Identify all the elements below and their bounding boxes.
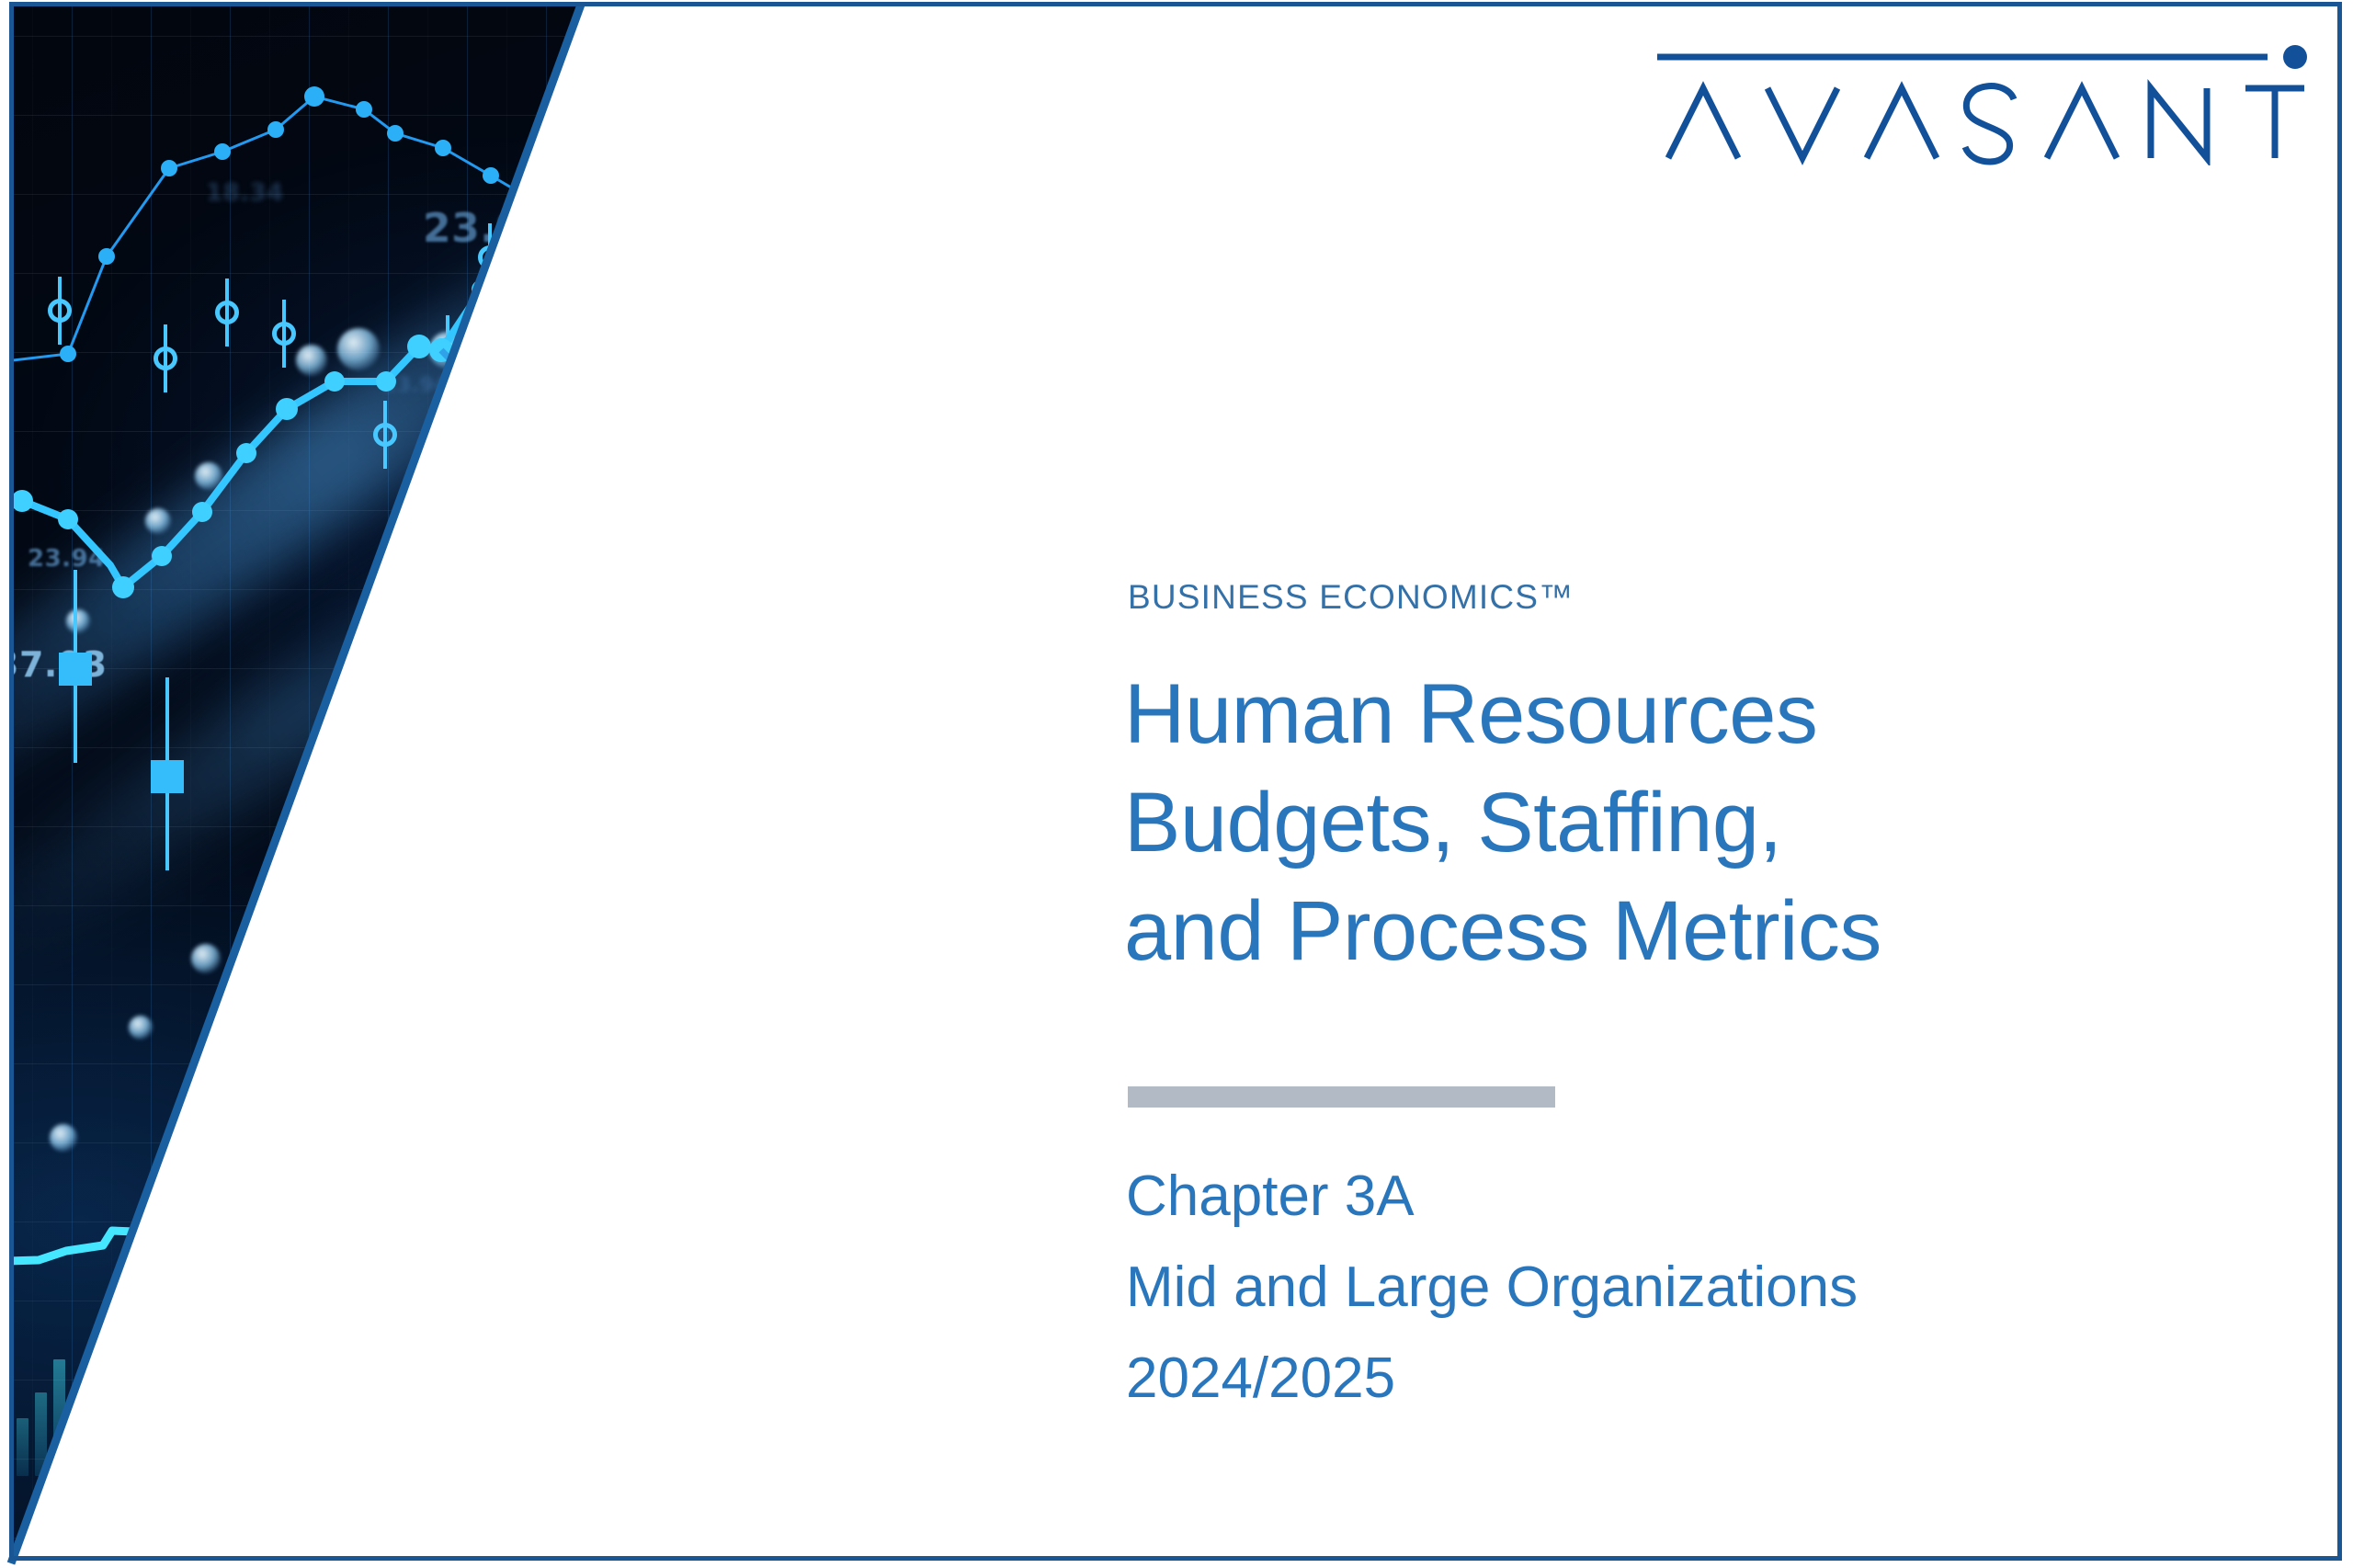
avasant-logo [1650, 37, 2312, 165]
line-series-thin-markers [60, 86, 499, 362]
volume-bar [586, 1081, 598, 1476]
volume-bar [513, 1110, 525, 1476]
logo-dot [2283, 45, 2307, 69]
volume-bar [72, 1402, 84, 1476]
bokeh-dot [507, 420, 539, 451]
volume-bar [219, 1326, 231, 1476]
line-series-branch [441, 350, 546, 442]
title-line: and Process Metrics [1124, 877, 2264, 985]
logo-letter-s [1965, 86, 2014, 162]
avasant-logo-mark [1650, 37, 2312, 165]
volume-bar [531, 1226, 543, 1476]
volume-bar [439, 1210, 451, 1476]
cover-text-column: BUSINESS ECONOMICS™ Human Resources Budg… [1128, 0, 2258, 1568]
subtitle-block: Chapter 3A Mid and Large Organizations 2… [1126, 1151, 2266, 1424]
volume-bar [90, 1376, 102, 1476]
volume-bar [568, 1160, 580, 1476]
volume-bar [384, 1176, 396, 1476]
title-line: Budgets, Staffing, [1124, 768, 2264, 877]
volume-bar [274, 1289, 286, 1476]
volume-bar [182, 1318, 194, 1476]
logo-letter-a3 [2047, 88, 2117, 158]
line-series-thick-markers [11, 212, 557, 598]
candlestick-wick [574, 407, 577, 475]
volume-bar [550, 1268, 562, 1476]
page-title: Human Resources Budgets, Staffing, and P… [1124, 660, 2264, 985]
series-eyebrow: BUSINESS ECONOMICS™ [1128, 578, 1574, 617]
volume-bar [164, 1234, 176, 1476]
line-chart-group [11, 5, 710, 1563]
volume-bar [623, 1293, 635, 1476]
line-series-branch-markers [501, 417, 557, 453]
line-series-lower [11, 1231, 379, 1315]
logo-letter-n [2151, 88, 2207, 158]
volume-bar [329, 1260, 341, 1476]
volume-bar [476, 1247, 488, 1476]
logo-letter-v [1768, 88, 1837, 158]
volume-bar [366, 1122, 378, 1476]
volume-bar [145, 1293, 157, 1476]
candlestick-marker [563, 429, 587, 453]
candlestick-marker [542, 335, 566, 359]
volume-bar [311, 1310, 323, 1476]
volume-bar [403, 1234, 415, 1476]
subtitle-scope: Mid and Large Organizations [1126, 1242, 2266, 1333]
artwork-background: 18.34 23.94 23.94 23.94 37.93 [11, 5, 710, 1563]
cover-artwork-panel: 18.34 23.94 23.94 23.94 37.93 [11, 5, 710, 1563]
cover-page: 18.34 23.94 23.94 23.94 37.93 [0, 0, 2353, 1568]
volume-bar [421, 1094, 433, 1476]
volume-bar [347, 1193, 359, 1476]
logo-letter-a2 [1867, 88, 1937, 158]
line-series-thin [11, 97, 563, 365]
volume-bar [458, 1285, 470, 1476]
candlestick-wick [552, 313, 556, 381]
volume-bar [237, 1364, 249, 1476]
bokeh-dot [537, 429, 561, 453]
logo-letter-a1 [1668, 88, 1738, 158]
title-divider-bar [1128, 1086, 1555, 1108]
volume-bar [127, 1351, 139, 1476]
volume-bar [256, 1339, 267, 1476]
subtitle-chapter: Chapter 3A [1126, 1151, 2266, 1242]
volume-bar [108, 1335, 120, 1476]
line-series-thick [11, 212, 577, 587]
subtitle-year: 2024/2025 [1126, 1333, 2266, 1424]
volume-bar [494, 1185, 506, 1476]
title-line: Human Resources [1124, 660, 2264, 768]
volume-bar [200, 1351, 212, 1476]
volume-bar [605, 1201, 617, 1476]
volume-bar [292, 1372, 304, 1476]
logo-letter-t [2245, 88, 2304, 158]
